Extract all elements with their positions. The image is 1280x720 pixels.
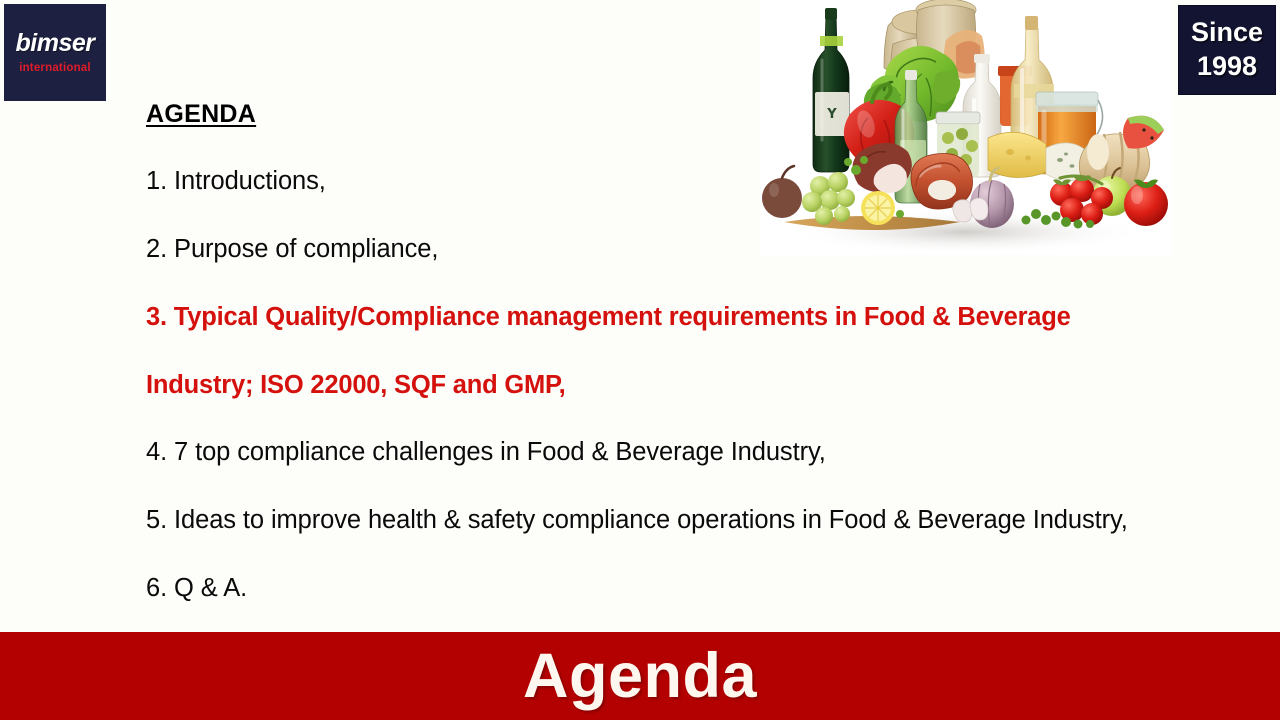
agenda-content: AGENDA 1. Introductions, 2. Purpose of c… xyxy=(146,100,1206,603)
badge-line-year: 1998 xyxy=(1197,50,1257,84)
page-title: AGENDA xyxy=(146,100,1206,129)
footer-banner: Agenda xyxy=(0,632,1280,720)
agenda-item-5: 5. Ideas to improve health & safety comp… xyxy=(146,506,1206,535)
agenda-item-3: 3. Typical Quality/Compliance management… xyxy=(146,303,1206,332)
bimser-logo: bimser international xyxy=(5,5,105,100)
logo-brand-subtitle: international xyxy=(19,63,91,75)
logo-brand-name: bimser xyxy=(16,31,95,56)
badge-line-since: Since xyxy=(1191,16,1263,50)
since-1998-badge: Since 1998 xyxy=(1178,5,1276,95)
agenda-item-6: 6. Q & A. xyxy=(146,574,1206,603)
agenda-item-2: 2. Purpose of compliance, xyxy=(146,235,1206,264)
agenda-item-1: 1. Introductions, xyxy=(146,167,1206,196)
footer-title: Agenda xyxy=(523,645,757,708)
agenda-item-4: 4. 7 top compliance challenges in Food &… xyxy=(146,438,1206,467)
agenda-item-3-continued: Industry; ISO 22000, SQF and GMP, xyxy=(146,371,1206,400)
presentation-slide: bimser international Since 1998 xyxy=(0,0,1280,720)
